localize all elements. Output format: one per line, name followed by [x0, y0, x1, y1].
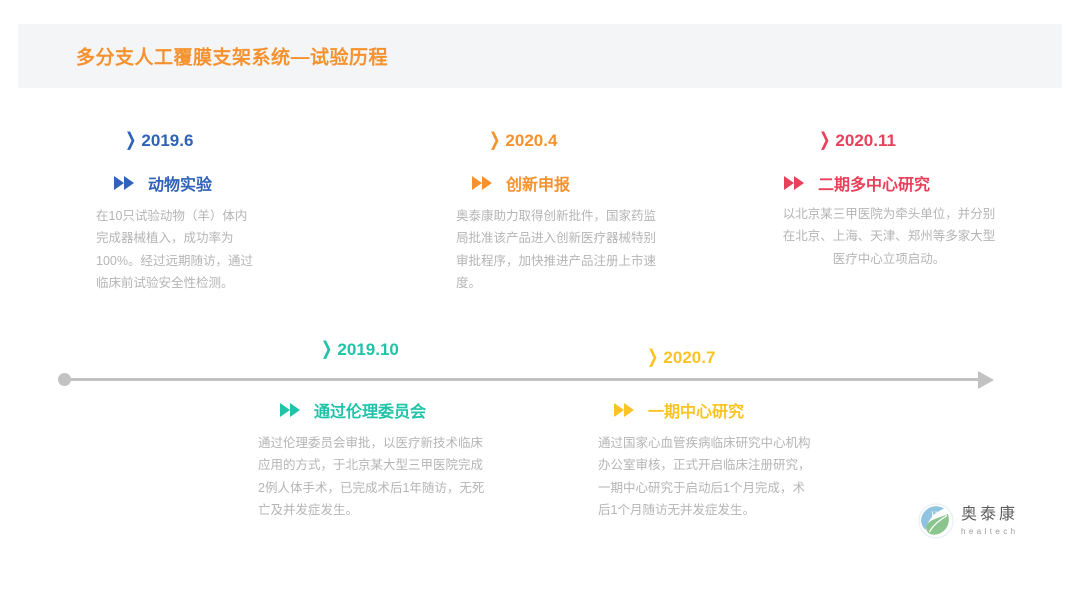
header-band: 多分支人工覆膜支架系统—试验历程	[18, 24, 1062, 88]
brand-logo: H 奥泰康 healtech	[918, 503, 1018, 539]
timeline-title-row-2019-6: 动物实验	[114, 171, 306, 195]
page-title: 多分支人工覆膜支架系统—试验历程	[76, 43, 388, 70]
timeline-date-2019-6: ❯ 2019.6	[124, 131, 306, 151]
chevron-right-icon: ❯	[321, 341, 332, 359]
timeline-title-row-2020-7: 一期中心研究	[614, 398, 826, 422]
date-label: 2019.6	[141, 131, 193, 151]
fast-forward-icon	[472, 176, 494, 190]
timeline-title-row-2020-11: 二期多中心研究	[784, 171, 1002, 195]
timeline-item-2019-6[interactable]: ❯ 2019.6 动物实验 在10只试验动物（羊）体内完成器械植入，成功率为10…	[96, 131, 306, 294]
chevron-right-icon: ❯	[489, 132, 500, 150]
chevron-right-icon: ❯	[819, 132, 830, 150]
svg-text:H: H	[931, 510, 938, 520]
date-label: 2020.11	[835, 131, 896, 151]
axis-end-arrow-icon	[978, 371, 994, 389]
timeline-title-label: 二期多中心研究	[818, 171, 930, 195]
fast-forward-icon	[784, 176, 806, 190]
timeline-axis	[0, 372, 1080, 388]
timeline-desc-2019-6: 在10只试验动物（羊）体内完成器械植入，成功率为100%。经过远期随访，通过临床…	[96, 205, 256, 294]
timeline-item-2020-4[interactable]: ❯ 2020.4 创新申报 奥泰康助力取得创新批件，国家药监局批准该产品进入创新…	[456, 131, 686, 294]
timeline-desc-2019-10: 通过伦理委员会审批，以医疗新技术临床应用的方式，于北京某大型三甲医院完成2例人体…	[258, 432, 488, 521]
timeline-item-2020-7[interactable]: ❯ 2020.7 一期中心研究 通过国家心血管疾病临床研究中心机构办公室审核，正…	[598, 348, 826, 521]
timeline-item-2020-11[interactable]: ❯ 2020.11 二期多中心研究 以北京某三甲医院为牵头单位，并分别在北京、上…	[770, 131, 1002, 270]
date-label: 2020.4	[505, 131, 557, 151]
date-label: 2020.7	[663, 348, 715, 368]
timeline-desc-2020-11: 以北京某三甲医院为牵头单位，并分别在北京、上海、天津、郑州等多家大型医疗中心立项…	[782, 203, 996, 270]
timeline-title-row-2019-10: 通过伦理委员会	[280, 398, 508, 422]
fast-forward-icon	[614, 403, 636, 417]
timeline-title-label: 通过伦理委员会	[314, 398, 426, 422]
logo-text-block: 奥泰康 healtech	[961, 507, 1018, 536]
timeline-date-2019-10: ❯ 2019.10	[320, 340, 508, 360]
timeline-title-label: 创新申报	[506, 171, 570, 195]
chevron-right-icon: ❯	[125, 132, 136, 150]
timeline-title-label: 一期中心研究	[648, 398, 744, 422]
chevron-right-icon: ❯	[647, 349, 658, 367]
logo-name-en: healtech	[961, 528, 1018, 536]
logo-name-cn: 奥泰康	[961, 507, 1018, 523]
fast-forward-icon	[114, 176, 136, 190]
healtech-leaf-icon: H	[918, 503, 954, 539]
timeline-title-label: 动物实验	[148, 171, 212, 195]
timeline-title-row-2020-4: 创新申报	[472, 171, 686, 195]
timeline-desc-2020-4: 奥泰康助力取得创新批件，国家药监局批准该产品进入创新医疗器械特别审批程序，加快推…	[456, 205, 668, 294]
fast-forward-icon	[280, 403, 302, 417]
timeline-date-2020-4: ❯ 2020.4	[488, 131, 686, 151]
timeline-date-2020-11: ❯ 2020.11	[818, 131, 1002, 151]
timeline-item-2019-10[interactable]: ❯ 2019.10 通过伦理委员会 通过伦理委员会审批，以医疗新技术临床应用的方…	[258, 340, 508, 521]
axis-line	[70, 378, 980, 381]
timeline-date-2020-7: ❯ 2020.7	[646, 348, 826, 368]
date-label: 2019.10	[337, 340, 398, 360]
timeline-desc-2020-7: 通过国家心血管疾病临床研究中心机构办公室审核，正式开启临床注册研究，一期中心研究…	[598, 432, 816, 521]
